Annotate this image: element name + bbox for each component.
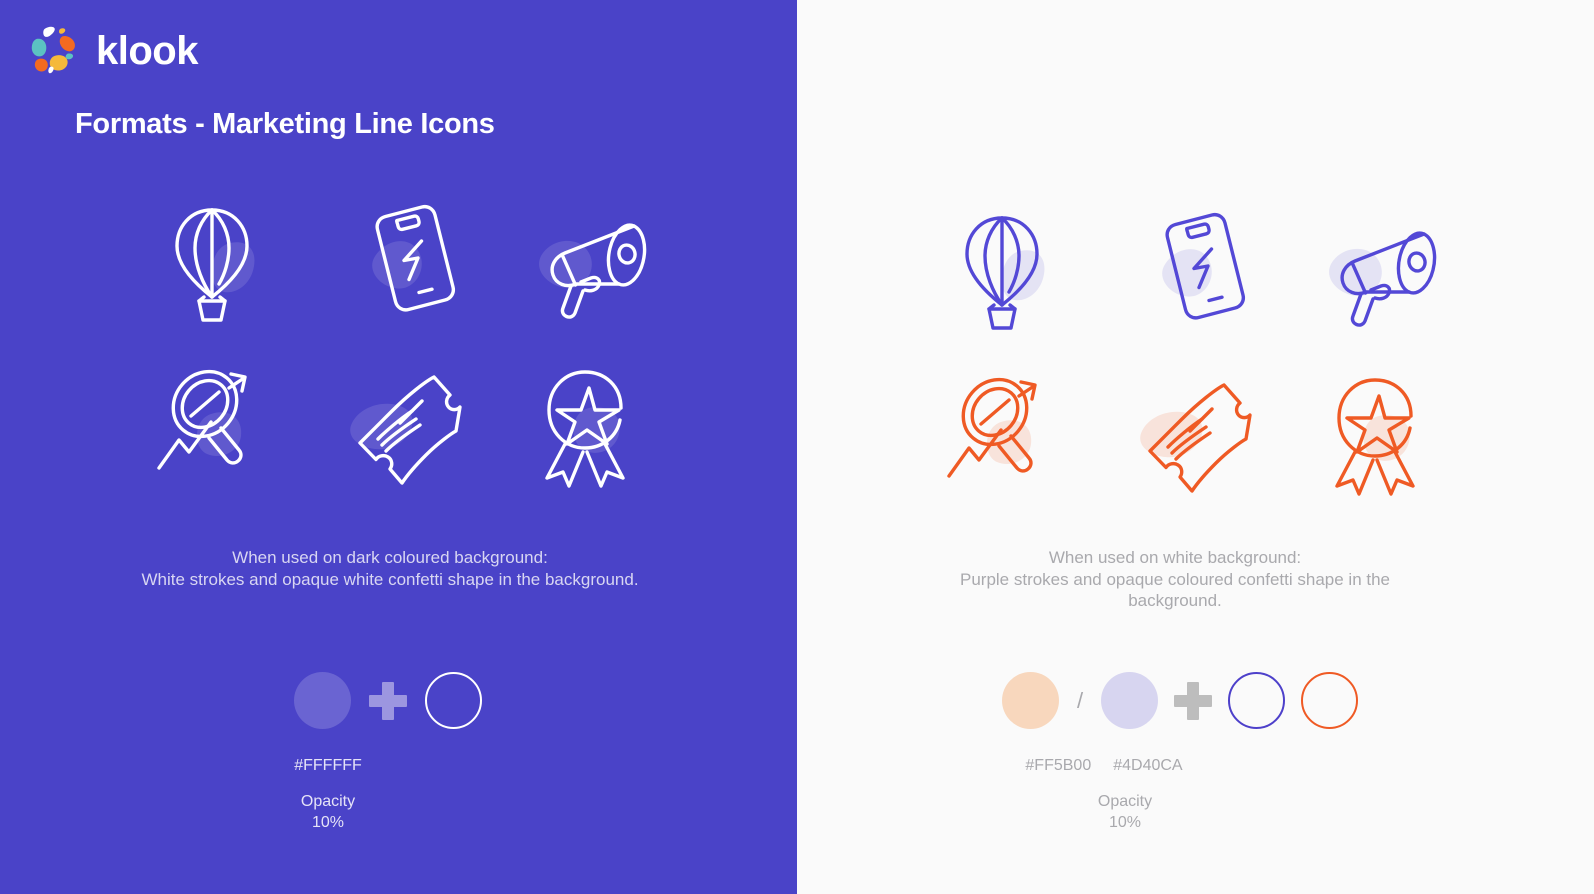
klook-wordmark: klook bbox=[96, 31, 198, 71]
dark-icon-grid bbox=[120, 178, 680, 508]
light-swatch-block: / #FF5B00 #4D40CA Opacity 10% bbox=[940, 672, 1420, 833]
mobile-lightning-icon bbox=[1115, 186, 1265, 351]
page-title: Formats - Marketing Line Icons bbox=[75, 108, 495, 141]
separator-slash: / bbox=[1075, 690, 1085, 712]
confetti-fill-swatch-orange[interactable] bbox=[1002, 672, 1059, 729]
hot-air-balloon-icon bbox=[928, 186, 1078, 351]
confetti-fill-swatch-purple[interactable] bbox=[1101, 672, 1158, 729]
stroke-ring-swatch-purple[interactable] bbox=[1228, 672, 1285, 729]
mobile-lightning-icon bbox=[325, 178, 475, 343]
megaphone-icon bbox=[1302, 186, 1452, 351]
dark-background-panel: klook Formats - Marketing Line Icons bbox=[0, 0, 797, 894]
light-usage-caption: When used on white background: Purple st… bbox=[930, 547, 1420, 612]
dark-usage-caption: When used on dark coloured background: W… bbox=[130, 547, 650, 590]
light-background-panel: When used on white background: Purple st… bbox=[797, 0, 1594, 894]
dark-swatch-block: #FFFFFF Opacity 10% bbox=[228, 672, 548, 833]
hex-label-purple: #4D40CA bbox=[1113, 757, 1182, 775]
hot-air-balloon-icon bbox=[138, 178, 288, 343]
ticket-icon bbox=[1115, 351, 1265, 516]
magnifier-growth-icon bbox=[928, 351, 1078, 516]
hex-label-orange: #FF5B00 bbox=[1025, 757, 1091, 775]
megaphone-icon bbox=[512, 178, 662, 343]
light-icon-grid bbox=[910, 186, 1470, 516]
light-opacity-label: Opacity 10% bbox=[1098, 791, 1152, 833]
dark-opacity-label: Opacity 10% bbox=[301, 791, 355, 833]
klook-confetti-logo-icon bbox=[24, 22, 82, 80]
hex-label-white: #FFFFFF bbox=[294, 757, 362, 775]
ticket-icon bbox=[325, 343, 475, 508]
magnifier-growth-icon bbox=[138, 343, 288, 508]
award-badge-icon bbox=[1302, 351, 1452, 516]
stroke-ring-swatch-orange[interactable] bbox=[1301, 672, 1358, 729]
brand-lockup: klook bbox=[24, 22, 198, 80]
light-swatch-row: / bbox=[1002, 672, 1358, 729]
award-badge-icon bbox=[512, 343, 662, 508]
confetti-fill-swatch[interactable] bbox=[294, 672, 351, 729]
plus-icon bbox=[1174, 682, 1212, 720]
dark-hex-labels: #FFFFFF bbox=[294, 757, 362, 775]
plus-icon bbox=[369, 682, 407, 720]
stroke-ring-swatch[interactable] bbox=[425, 672, 482, 729]
slide-canvas: klook Formats - Marketing Line Icons bbox=[0, 0, 1594, 894]
dark-swatch-row bbox=[294, 672, 482, 729]
light-hex-labels: #FF5B00 #4D40CA bbox=[1025, 757, 1182, 775]
